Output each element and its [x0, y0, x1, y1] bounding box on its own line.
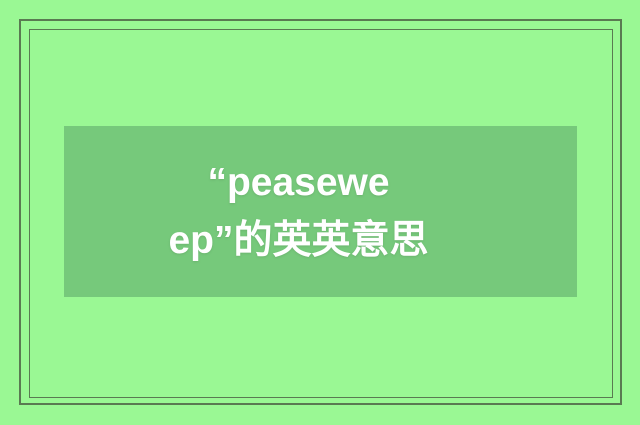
- poster-canvas: “peasewe ep”的英英意思: [0, 0, 640, 425]
- title-line-1: “peasewe: [64, 154, 533, 212]
- title-panel: “peasewe ep”的英英意思: [64, 126, 577, 297]
- title-text-block: “peasewe ep”的英英意思: [64, 154, 577, 270]
- title-line-2: ep”的英英意思: [64, 212, 533, 270]
